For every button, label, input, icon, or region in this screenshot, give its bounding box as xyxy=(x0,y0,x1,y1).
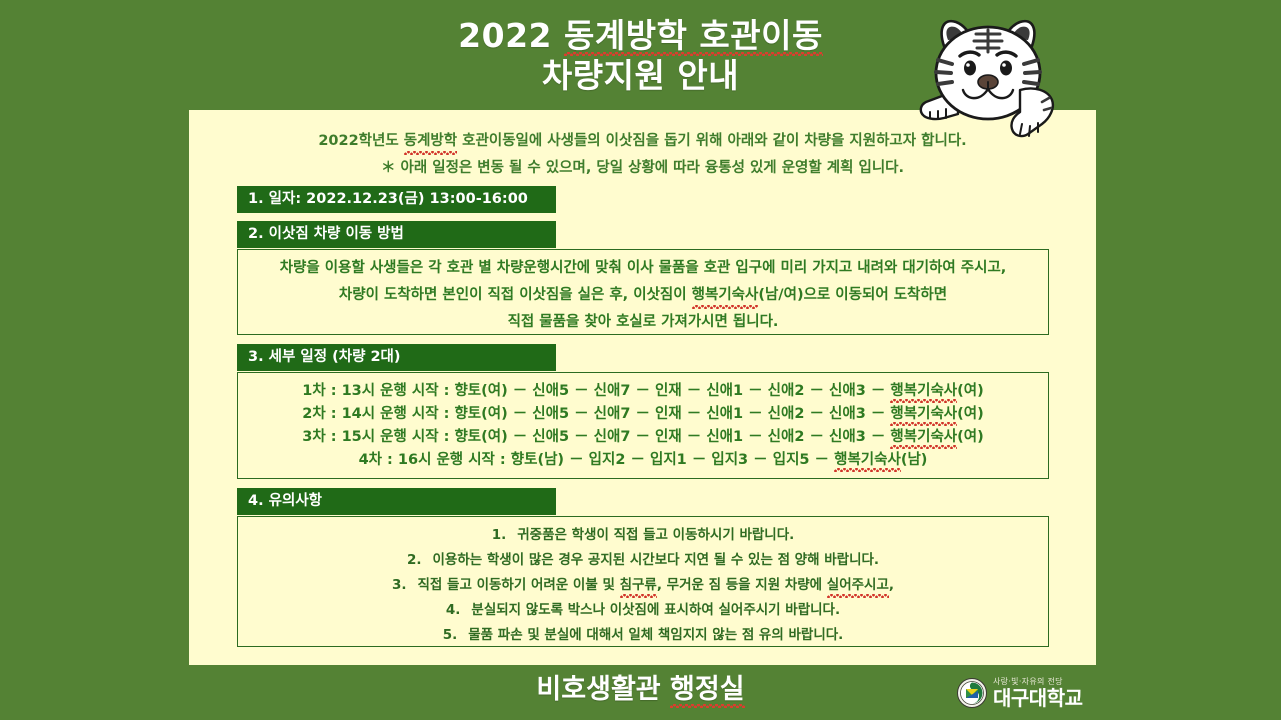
schedule-row-suffix: (남) xyxy=(901,452,928,468)
section-header-schedule: 3. 세부 일정 (차량 2대) xyxy=(237,344,556,371)
note-number: 4. xyxy=(446,598,461,623)
schedule-row-route: 2차 : 14시 운행 시작 : 향토(여) － 신애5 － 신애7 － 인재 … xyxy=(302,406,890,422)
intro-line-1: 2022학년도 동계방학 호관이동일에 사생들의 이삿짐을 돕기 위해 아래와 … xyxy=(189,128,1096,155)
note-item: 5.물품 파손 및 분실에 대해서 일체 책임지지 않는 점 유의 바랍니다. xyxy=(238,623,1048,648)
schedule-row-flagged: 행복기숙사 xyxy=(890,426,957,449)
note-number: 2. xyxy=(407,548,422,573)
intro-flagged-phrase: 동계방학 xyxy=(404,128,457,155)
schedule-row-route: 4차 : 16시 운행 시작 : 향토(남) － 입지2 － 입지1 － 입지3… xyxy=(359,452,835,468)
method-text: 차량을 이용할 사생들은 각 호관 별 차량운행시간에 맞춰 이사 물품을 호관… xyxy=(238,250,1048,336)
title-year: 2022 xyxy=(458,16,564,55)
daegu-university-emblem-icon xyxy=(957,678,987,708)
poster-title: 2022 동계방학 호관이동 차량지원 안내 xyxy=(0,16,1281,96)
schedule-row: 4차 : 16시 운행 시작 : 향토(남) － 입지2 － 입지1 － 입지3… xyxy=(238,449,1048,472)
notes-list: 1.귀중품은 학생이 직접 들고 이동하시기 바랍니다. 2.이용하는 학생이 … xyxy=(238,517,1048,648)
intro-line-1-part-a: 2022학년도 xyxy=(318,133,403,149)
note-flagged-word-1: 침구류 xyxy=(620,573,657,598)
schedule-box: 1차 : 13시 운행 시작 : 향토(여) － 신애5 － 신애7 － 인재 … xyxy=(237,372,1049,479)
schedule-row-suffix: (여) xyxy=(957,429,984,445)
brand-university-name: 대구대학교 xyxy=(993,687,1083,709)
schedule-row-flagged: 행복기숙사 xyxy=(834,449,901,472)
note-item: 3.직접 들고 이동하기 어려운 이불 및 침구류, 무거운 짐 등을 지원 차… xyxy=(238,573,1048,598)
footer-office-prefix: 비호생활관 xyxy=(536,674,670,705)
method-line-2-part-a: 차량이 도착하면 본인이 직접 이삿짐을 실은 후, 이삿짐이 xyxy=(339,287,692,303)
schedule-row-flagged: 행복기숙사 xyxy=(890,380,957,403)
notice-card: 2022학년도 동계방학 호관이동일에 사생들의 이삿짐을 돕기 위해 아래와 … xyxy=(189,110,1096,665)
note-text: 분실되지 않도록 박스나 이삿짐에 표시하여 실어주시기 바랍니다. xyxy=(471,602,840,618)
schedule-list: 1차 : 13시 운행 시작 : 향토(여) － 신애5 － 신애7 － 인재 … xyxy=(238,373,1048,472)
note-text-part-a: 직접 들고 이동하기 어려운 이불 및 xyxy=(417,577,619,593)
schedule-row: 1차 : 13시 운행 시작 : 향토(여) － 신애5 － 신애7 － 인재 … xyxy=(238,380,1048,403)
note-number: 5. xyxy=(443,623,458,648)
schedule-row-route: 3차 : 15시 운행 시작 : 향토(여) － 신애5 － 신애7 － 인재 … xyxy=(302,429,890,445)
notes-box: 1.귀중품은 학생이 직접 들고 이동하시기 바랍니다. 2.이용하는 학생이 … xyxy=(237,516,1049,647)
title-flagged-phrase: 동계방학 호관이동 xyxy=(564,16,823,56)
section-header-date: 1. 일자: 2022.12.23(금) 13:00-16:00 xyxy=(237,186,556,213)
method-line-3: 직접 물품을 찾아 호실로 가져가시면 됩니다. xyxy=(238,309,1048,336)
note-text: 귀중품은 학생이 직접 들고 이동하시기 바랍니다. xyxy=(517,527,794,543)
method-flagged-phrase: 행복기숙사 xyxy=(692,282,759,309)
method-line-2-part-b: (남/여)으로 이동되어 도착하면 xyxy=(758,287,947,303)
schedule-row-route: 1차 : 13시 운행 시작 : 향토(여) － 신애5 － 신애7 － 인재 … xyxy=(302,383,890,399)
brand-text-block: 사랑·빛·자유의 전당 대구대학교 xyxy=(993,677,1083,709)
intro-line-1-part-b: 호관이동일에 사생들의 이삿짐을 돕기 위해 아래와 같이 차량을 지원하고자 … xyxy=(457,133,967,149)
intro-paragraph: 2022학년도 동계방학 호관이동일에 사생들의 이삿짐을 돕기 위해 아래와 … xyxy=(189,110,1096,182)
note-text: 이용하는 학생이 많은 경우 공지된 시간보다 지연 될 수 있는 점 양해 바… xyxy=(432,552,879,568)
footer-flagged-word: 행정실 xyxy=(670,672,745,708)
method-line-1: 차량을 이용할 사생들은 각 호관 별 차량운행시간에 맞춰 이사 물품을 호관… xyxy=(238,255,1048,282)
note-text-part-c: , xyxy=(889,577,894,593)
note-item: 2.이용하는 학생이 많은 경우 공지된 시간보다 지연 될 수 있는 점 양해… xyxy=(238,548,1048,573)
note-text-part-b: , 무거운 짐 등을 지원 차량에 xyxy=(657,577,827,593)
title-line-2: 차량지원 안내 xyxy=(0,56,1281,96)
schedule-row-suffix: (여) xyxy=(957,406,984,422)
section-header-method: 2. 이삿짐 차량 이동 방법 xyxy=(237,221,556,248)
section-header-notes: 4. 유의사항 xyxy=(237,488,556,515)
note-text: 물품 파손 및 분실에 대해서 일체 책임지지 않는 점 유의 바랍니다. xyxy=(468,627,843,643)
method-line-2: 차량이 도착하면 본인이 직접 이삿짐을 실은 후, 이삿짐이 행복기숙사(남/… xyxy=(238,282,1048,309)
schedule-row-suffix: (여) xyxy=(957,383,984,399)
schedule-row-flagged: 행복기숙사 xyxy=(890,403,957,426)
note-flagged-word-2: 실어주시고 xyxy=(827,573,889,598)
schedule-row: 3차 : 15시 운행 시작 : 향토(여) － 신애5 － 신애7 － 인재 … xyxy=(238,426,1048,449)
note-number: 3. xyxy=(392,573,407,598)
title-line-1: 2022 동계방학 호관이동 xyxy=(0,16,1281,56)
university-brand: 사랑·빛·자유의 전당 대구대학교 xyxy=(957,672,1117,714)
note-item: 4.분실되지 않도록 박스나 이삿짐에 표시하여 실어주시기 바랍니다. xyxy=(238,598,1048,623)
schedule-row: 2차 : 14시 운행 시작 : 향토(여) － 신애5 － 신애7 － 인재 … xyxy=(238,403,1048,426)
note-item: 1.귀중품은 학생이 직접 들고 이동하시기 바랍니다. xyxy=(238,523,1048,548)
method-box: 차량을 이용할 사생들은 각 호관 별 차량운행시간에 맞춰 이사 물품을 호관… xyxy=(237,249,1049,335)
intro-line-2: ＊ 아래 일정은 변동 될 수 있으며, 당일 상황에 따라 융통성 있게 운영… xyxy=(189,155,1096,182)
note-number: 1. xyxy=(492,523,507,548)
